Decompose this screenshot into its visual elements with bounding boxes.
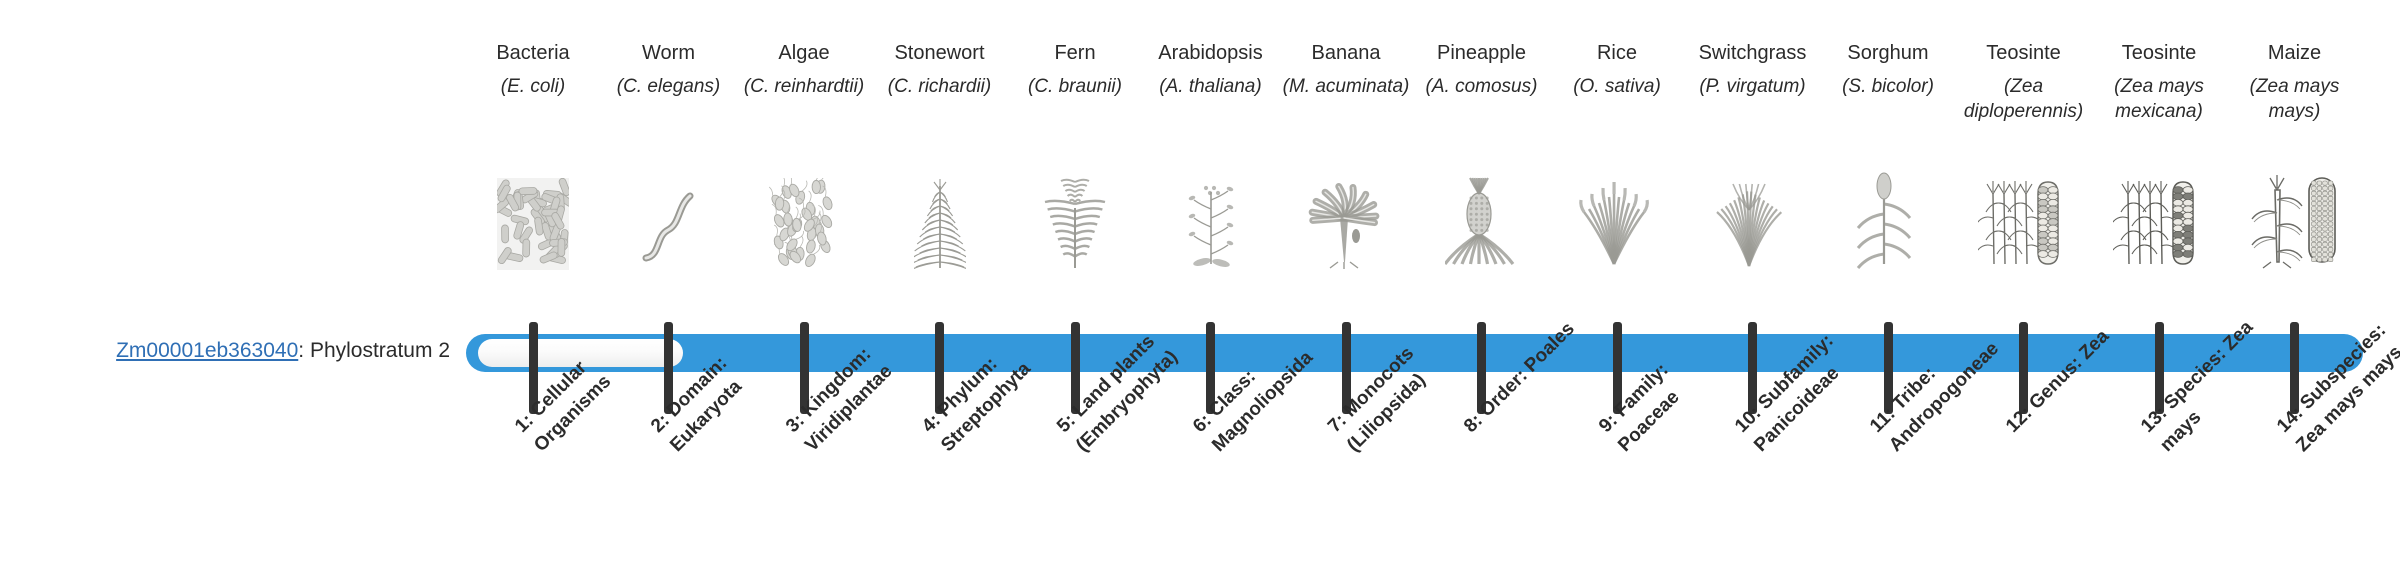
switchgrass-illustration	[1684, 170, 1821, 270]
species-common-name: Sorghum	[1820, 40, 1957, 66]
maize-illustration	[2226, 170, 2363, 270]
rice-illustration	[1549, 170, 1686, 270]
species-column: Bacteria(E. coli)	[465, 0, 602, 99]
gene-phylostratum-label: Zm00001eb363040: Phylostratum 2	[0, 337, 450, 365]
species-column: Worm(C. elegans)	[600, 0, 737, 99]
species-common-name: Teosinte	[1955, 40, 2092, 66]
banana-illustration	[1278, 170, 1415, 270]
algae-illustration	[736, 170, 873, 270]
pineapple-illustration	[1413, 170, 1550, 270]
species-column: Teosinte(Zea mays mexicana)	[2091, 0, 2228, 124]
species-column: Arabidopsis(A. thaliana)	[1142, 0, 1279, 99]
species-column: Banana(M. acuminata)	[1278, 0, 1415, 99]
species-common-name: Algae	[736, 40, 873, 66]
sorghum-illustration	[1820, 170, 1957, 270]
species-common-name: Bacteria	[465, 40, 602, 66]
species-scientific-name: (Zea mays mexicana)	[2091, 74, 2228, 124]
species-column: Sorghum(S. bicolor)	[1820, 0, 1957, 99]
gene-label-separator: :	[298, 339, 310, 362]
species-scientific-name: (Zea diploperennis)	[1955, 74, 2092, 124]
species-scientific-name: (A. comosus)	[1413, 74, 1550, 99]
species-scientific-name: (C. braunii)	[1007, 74, 1144, 99]
species-scientific-name: (M. acuminata)	[1278, 74, 1415, 99]
species-common-name: Stonewort	[871, 40, 1008, 66]
species-column: Maize(Zea mays mays)	[2226, 0, 2363, 124]
species-scientific-name: (A. thaliana)	[1142, 74, 1279, 99]
species-common-name: Fern	[1007, 40, 1144, 66]
species-common-name: Worm	[600, 40, 737, 66]
fern-illustration	[1007, 170, 1144, 270]
bacteria-illustration	[465, 170, 602, 270]
species-column: Teosinte(Zea diploperennis)	[1955, 0, 2092, 124]
species-scientific-name: (C. reinhardtii)	[736, 74, 873, 99]
species-scientific-name: (C. richardii)	[871, 74, 1008, 99]
phylostratum-figure: Zm00001eb363040: Phylostratum 2 Bacteria…	[0, 0, 2400, 580]
species-common-name: Pineapple	[1413, 40, 1550, 66]
species-common-name: Rice	[1549, 40, 1686, 66]
species-scientific-name: (C. elegans)	[600, 74, 737, 99]
species-scientific-name: (E. coli)	[465, 74, 602, 99]
species-common-name: Teosinte	[2091, 40, 2228, 66]
species-column: Algae(C. reinhardtii)	[736, 0, 873, 99]
species-common-name: Maize	[2226, 40, 2363, 66]
species-column: Rice(O. sativa)	[1549, 0, 1686, 99]
species-column: Stonewort(C. richardii)	[871, 0, 1008, 99]
species-column: Pineapple(A. comosus)	[1413, 0, 1550, 99]
species-common-name: Arabidopsis	[1142, 40, 1279, 66]
species-scientific-name: (P. virgatum)	[1684, 74, 1821, 99]
species-common-name: Banana	[1278, 40, 1415, 66]
arabidopsis-illustration	[1142, 170, 1279, 270]
teosinte-mexicana-illustration	[2091, 170, 2228, 270]
species-column: Fern(C. braunii)	[1007, 0, 1144, 99]
teosinte-diploperennis-illustration	[1955, 170, 2092, 270]
species-scientific-name: (O. sativa)	[1549, 74, 1686, 99]
species-column: Switchgrass(P. virgatum)	[1684, 0, 1821, 99]
stonewort-illustration	[871, 170, 1008, 270]
worm-illustration	[600, 170, 737, 270]
species-scientific-name: (Zea mays mays)	[2226, 74, 2363, 124]
gene-id-link[interactable]: Zm00001eb363040	[116, 339, 298, 362]
phylostratum-value-text: Phylostratum 2	[310, 339, 450, 362]
species-scientific-name: (S. bicolor)	[1820, 74, 1957, 99]
species-common-name: Switchgrass	[1684, 40, 1821, 66]
